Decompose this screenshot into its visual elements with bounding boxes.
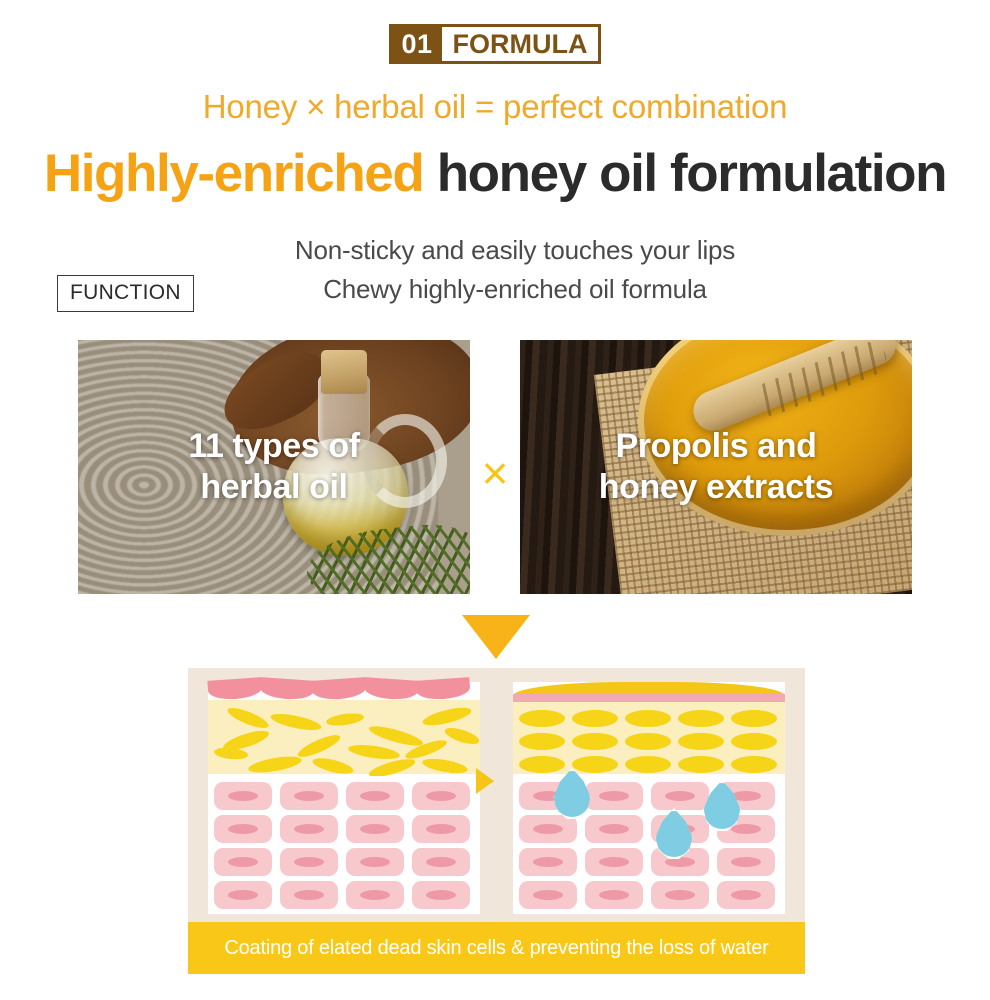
skin-cell [412,815,470,843]
photo-herbal-oil: 11 types of herbal oil [78,340,470,594]
skin-cell-nucleus [731,890,761,900]
skin-cell-nucleus [731,857,761,867]
dead-skin-flake [443,725,481,748]
water-droplet-icon [701,780,743,832]
water-droplet-icon [551,768,593,820]
skin-flake [415,677,470,701]
skin-cell-nucleus [599,857,629,867]
dead-skin-cell-flat [572,710,618,727]
skin-cell [346,881,404,909]
skin-cell-nucleus [294,890,324,900]
dead-skin-cell-flat [519,710,565,727]
dead-skin-flake [269,711,322,734]
skin-cell [280,881,338,909]
skin-cell-nucleus [360,890,390,900]
photo-right-caption-line2: honey extracts [520,467,912,508]
dead-skin-cell-flat [731,733,777,750]
skin-cell-nucleus [665,890,695,900]
badge-frame: 01 FORMULA [389,24,600,64]
skin-before-diagram [208,682,480,914]
skin-flake [363,677,418,701]
skin-cell [346,815,404,843]
skin-cell-nucleus [426,857,456,867]
skin-cell [346,782,404,810]
body-line-2: Chewy highly-enriched oil formula [195,270,835,309]
skin-cell-nucleus [599,824,629,834]
skin-cell [280,848,338,876]
badge-number: 01 [392,27,441,61]
photo-left-caption: 11 types of herbal oil [78,426,470,508]
sub-headline: Honey × herbal oil = perfect combination [0,88,990,126]
photo-left-caption-line2: herbal oil [78,467,470,508]
dead-skin-cell-flat [625,756,671,773]
dead-skin-flake [325,711,364,727]
dead-skin-cell-flat [625,710,671,727]
headline-plain: honey oil formulation [437,144,946,203]
skin-cell-nucleus [228,857,258,867]
skin-cell [717,881,775,909]
badge-label: FORMULA [442,27,598,61]
skin-cell [585,848,643,876]
body-line-1: Non-sticky and easily touches your lips [195,231,835,270]
diagram-caption-bar: Coating of elated dead skin cells & prev… [188,922,805,974]
dead-skin-flake [247,753,302,775]
skin-cell [585,782,643,810]
skin-cell-nucleus [599,890,629,900]
dead-skin-flake [311,755,355,777]
skin-cell-nucleus [426,890,456,900]
skin-cell-nucleus [665,791,695,801]
arrow-down-icon [462,615,530,659]
skin-cell-nucleus [360,857,390,867]
dead-skin-cell-flat [625,733,671,750]
skin-cell-nucleus [426,791,456,801]
skin-cell-nucleus [360,791,390,801]
body-copy: Non-sticky and easily touches your lips … [195,231,835,309]
skin-cell [214,848,272,876]
dead-skin-flake [421,756,468,776]
skin-cells-before [208,776,480,914]
function-label: FUNCTION [57,275,194,312]
section-badge: 01 FORMULA [0,24,990,64]
skin-cell-nucleus [294,791,324,801]
skin-cell-nucleus [426,824,456,834]
skin-flake [207,677,262,701]
skin-cell [519,881,577,909]
skin-diagram-panel: Coating of elated dead skin cells & prev… [188,668,805,974]
dead-skin-flake [421,704,473,729]
skin-cell-nucleus [599,791,629,801]
arrow-right-icon [476,768,494,794]
dead-skin-flake [225,704,270,732]
dead-skin-cell-flat [678,733,724,750]
dead-skin-cell-flat [678,710,724,727]
skin-cell [412,881,470,909]
skin-flake [259,677,314,701]
skin-cell-nucleus [533,857,563,867]
headline-accent: Highly-enriched [44,144,424,203]
skin-diagram-halves [188,668,805,922]
skin-flake [311,677,366,701]
skin-after-diagram [513,682,785,914]
dead-skin-cell-flat [731,710,777,727]
skin-cell-nucleus [228,824,258,834]
skin-cell [214,782,272,810]
skin-cell [585,881,643,909]
diagram-caption-text: Coating of elated dead skin cells & prev… [224,937,768,960]
skin-cell [280,815,338,843]
skin-cell-nucleus [533,890,563,900]
skin-cell [717,848,775,876]
skin-cell [519,848,577,876]
dead-skin-layer-after [513,702,785,774]
skin-cell [214,881,272,909]
dead-skin-layer-before [208,700,480,774]
skin-cell [651,881,709,909]
dead-skin-cell-flat [519,733,565,750]
skin-cell-nucleus [360,824,390,834]
photo-honey: Propolis and honey extracts [520,340,912,594]
photo-left-caption-line1: 11 types of [78,426,470,467]
skin-cell [280,782,338,810]
photo-right-caption-line1: Propolis and [520,426,912,467]
skin-cell [412,848,470,876]
dead-skin-cell-flat [731,756,777,773]
skin-cell-nucleus [228,890,258,900]
skin-cell [412,782,470,810]
skin-cells-after [513,776,785,914]
dead-skin-flake [296,731,343,761]
skin-cell-nucleus [294,824,324,834]
dead-skin-cell-flat [572,733,618,750]
skin-cell-nucleus [228,791,258,801]
infographic-page: 01 FORMULA Honey × herbal oil = perfect … [0,0,990,1000]
dead-skin-flake [347,742,400,761]
photo-right-caption: Propolis and honey extracts [520,426,912,508]
dead-skin-flake [214,746,249,760]
dead-skin-cell-flat [678,756,724,773]
skin-cell [346,848,404,876]
skin-cell-nucleus [533,824,563,834]
skin-cell [585,815,643,843]
skin-cell-nucleus [294,857,324,867]
page-title: Highly-enriched honey oil formulation [0,143,990,204]
skin-cell [214,815,272,843]
multiply-icon: × [462,440,528,506]
water-droplet-icon [653,808,695,860]
